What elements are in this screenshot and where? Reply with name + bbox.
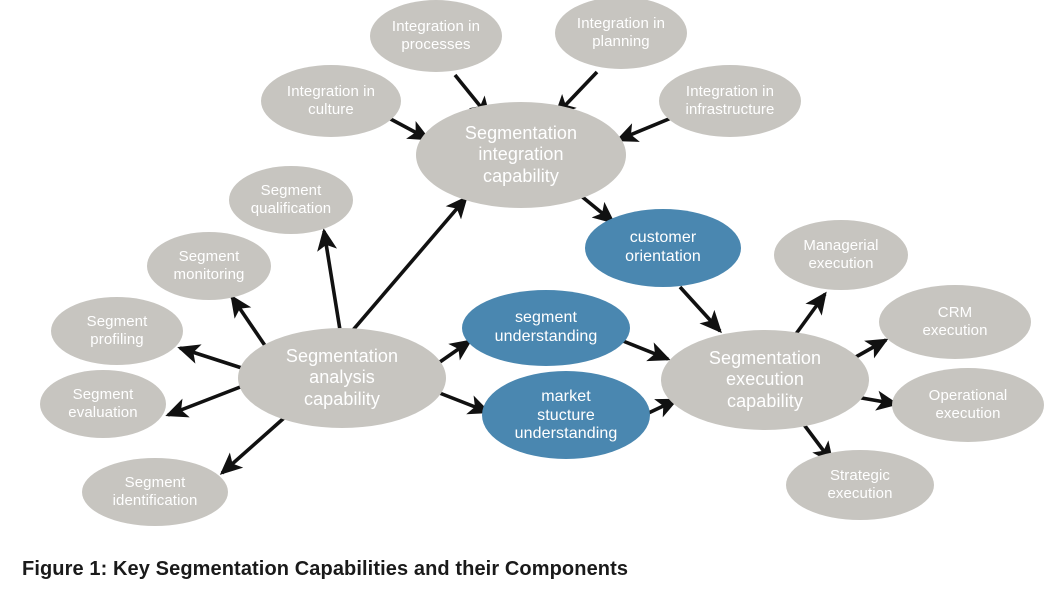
node-segment-identification[interactable] — [82, 458, 228, 526]
edge-execution-capability-to-crm-execution — [854, 340, 886, 358]
figure-canvas: Integration in processes Integration in … — [0, 0, 1045, 600]
node-managerial-execution[interactable] — [774, 220, 908, 290]
edge-integration-capability-to-customer-orientation — [580, 195, 613, 222]
node-segment-evaluation[interactable] — [40, 370, 166, 438]
edge-analysis-to-segment-identification — [222, 418, 284, 473]
edge-customer-orientation-to-execution-capability — [680, 287, 720, 331]
figure-caption: Figure 1: Key Segmentation Capabilities … — [22, 558, 628, 581]
edge-analysis-to-segment-profiling — [180, 348, 248, 370]
edge-analysis-to-segment-monitoring — [232, 297, 268, 350]
edge-integration-culture-to-integration-capability — [385, 116, 428, 139]
node-integration-processes[interactable] — [370, 0, 502, 72]
nodes-layer — [40, 0, 1044, 526]
node-segment-profiling[interactable] — [51, 297, 183, 365]
edge-analysis-to-segment-evaluation — [168, 384, 248, 415]
node-crm-execution[interactable] — [879, 285, 1031, 359]
node-market-structure-understanding[interactable] — [482, 371, 650, 459]
edge-analysis-to-integration-capability — [353, 198, 466, 330]
node-segment-understanding[interactable] — [462, 290, 630, 366]
node-segmentation-analysis-capability[interactable] — [238, 328, 446, 428]
edge-analysis-to-market-structure-understanding — [437, 392, 488, 412]
node-segmentation-integration-capability[interactable] — [416, 102, 626, 208]
node-operational-execution[interactable] — [892, 368, 1044, 442]
segmentation-capabilities-diagram — [0, 0, 1045, 545]
node-segment-monitoring[interactable] — [147, 232, 271, 300]
edge-execution-capability-to-operational-execution — [856, 397, 896, 404]
node-integration-culture[interactable] — [261, 65, 401, 137]
edge-integration-infrastructure-to-integration-capability — [618, 116, 676, 140]
node-segmentation-execution-capability[interactable] — [661, 330, 869, 430]
node-customer-orientation[interactable] — [585, 209, 741, 287]
edge-analysis-to-segment-understanding — [437, 341, 470, 364]
node-integration-infrastructure[interactable] — [659, 65, 801, 137]
node-segment-qualification[interactable] — [229, 166, 353, 234]
node-integration-planning[interactable] — [555, 0, 687, 69]
node-strategic-execution[interactable] — [786, 450, 934, 520]
edge-segment-understanding-to-execution-capability — [623, 341, 668, 359]
edge-execution-capability-to-managerial-execution — [793, 294, 825, 338]
edge-analysis-to-segment-qualification — [324, 231, 340, 330]
